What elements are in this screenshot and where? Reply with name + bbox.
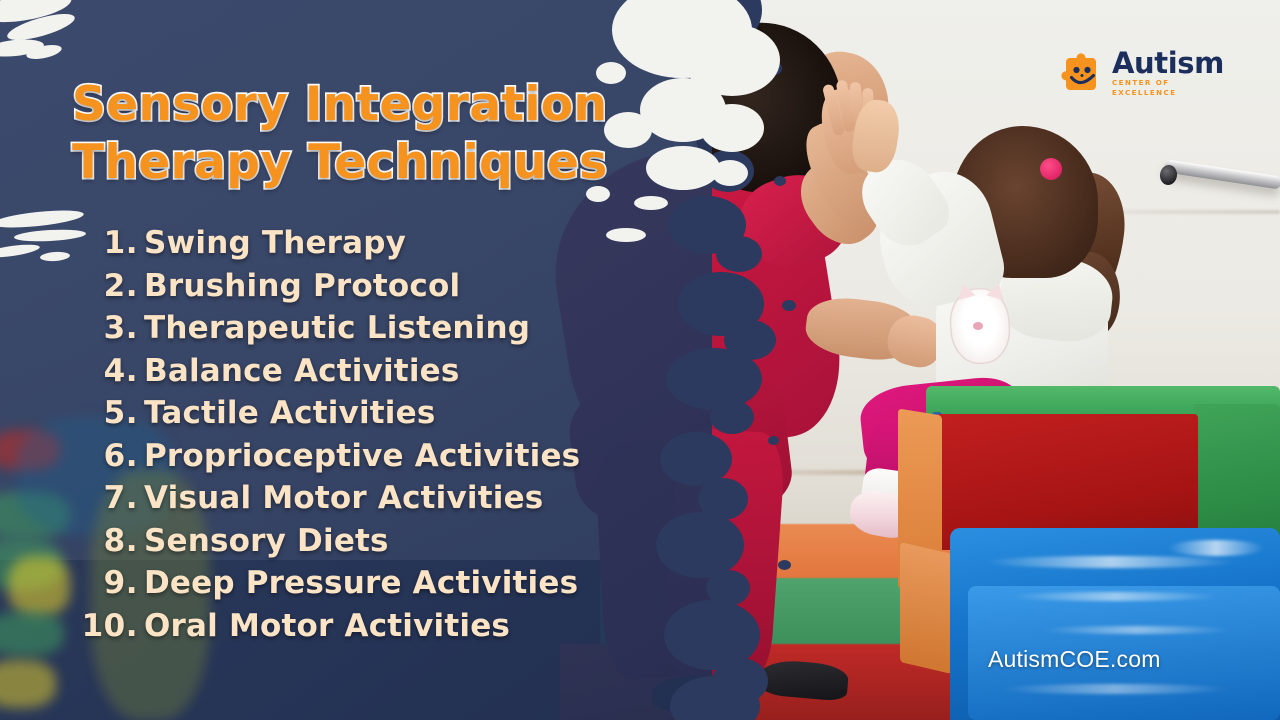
website-url[interactable]: AutismCOE.com: [988, 646, 1161, 673]
list-item-number: 9.: [64, 562, 138, 605]
foam-mat-orange-lower: [900, 542, 952, 674]
list-item-label: Tactile Activities: [144, 392, 436, 435]
list-item: 1. Swing Therapy: [64, 222, 664, 265]
list-item-number: 10.: [64, 605, 138, 648]
splatter-blob: [710, 400, 754, 434]
list-item-number: 6.: [64, 435, 138, 478]
list-item-number: 5.: [64, 392, 138, 435]
foam-mat-green-side: [1194, 404, 1280, 548]
list-item: 5. Tactile Activities: [64, 392, 664, 435]
list-item: 3. Therapeutic Listening: [64, 307, 664, 350]
list-item-label: Brushing Protocol: [144, 265, 460, 308]
child-hair-tie: [1040, 158, 1062, 180]
list-item-label: Balance Activities: [144, 350, 460, 393]
list-item: 9. Deep Pressure Activities: [64, 562, 664, 605]
list-item-label: Visual Motor Activities: [144, 477, 543, 520]
list-item: 7. Visual Motor Activities: [64, 477, 664, 520]
mat-highlight: [986, 556, 1236, 568]
title-line-2: Therapy Techniques: [72, 135, 608, 190]
list-item-label: Oral Motor Activities: [144, 605, 510, 648]
list-item-number: 8.: [64, 520, 138, 563]
techniques-list: 1. Swing Therapy 2. Brushing Protocol 3.…: [64, 222, 664, 647]
list-item-number: 2.: [64, 265, 138, 308]
page-title: Sensory Integration Therapy Techniques: [72, 76, 632, 193]
list-item: 4. Balance Activities: [64, 350, 664, 393]
mat-highlight: [1000, 684, 1230, 694]
title-line-1: Sensory Integration: [72, 77, 607, 132]
list-item-number: 1.: [64, 222, 138, 265]
list-item-label: Proprioceptive Activities: [144, 435, 580, 478]
white-paint-droplet: [712, 160, 748, 186]
splatter-droplet: [782, 300, 796, 311]
infographic-poster: Sensory Integration Therapy Techniques 1…: [0, 0, 1280, 720]
list-item-label: Sensory Diets: [144, 520, 389, 563]
brand-logo[interactable]: Autism CENTER OF EXCELLENCE: [1055, 42, 1227, 104]
kitty-nose: [973, 322, 983, 330]
list-item: 8. Sensory Diets: [64, 520, 664, 563]
list-item: 2. Brushing Protocol: [64, 265, 664, 308]
list-item: 6. Proprioceptive Activities: [64, 435, 664, 478]
logo-wordmark: Autism CENTER OF EXCELLENCE: [1112, 48, 1227, 98]
list-item-label: Deep Pressure Activities: [144, 562, 578, 605]
list-item-number: 3.: [64, 307, 138, 350]
splatter-blob: [716, 236, 762, 272]
list-item-number: 7.: [64, 477, 138, 520]
logo-tagline: CENTER OF EXCELLENCE: [1112, 78, 1227, 98]
splatter-droplet: [778, 560, 791, 570]
splatter-droplet: [774, 176, 786, 186]
splatter-droplet: [768, 436, 779, 445]
mat-highlight: [1010, 592, 1220, 601]
list-item-label: Swing Therapy: [144, 222, 406, 265]
autism-puzzle-smiley-icon: [1055, 49, 1103, 97]
mat-highlight: [1042, 626, 1232, 634]
text-content-area: Sensory Integration Therapy Techniques 1…: [0, 0, 712, 720]
list-item-number: 4.: [64, 350, 138, 393]
list-item-label: Therapeutic Listening: [144, 307, 530, 350]
mat-highlight: [1168, 540, 1264, 556]
list-item: 10. Oral Motor Activities: [64, 605, 664, 648]
logo-name: Autism: [1112, 49, 1227, 77]
